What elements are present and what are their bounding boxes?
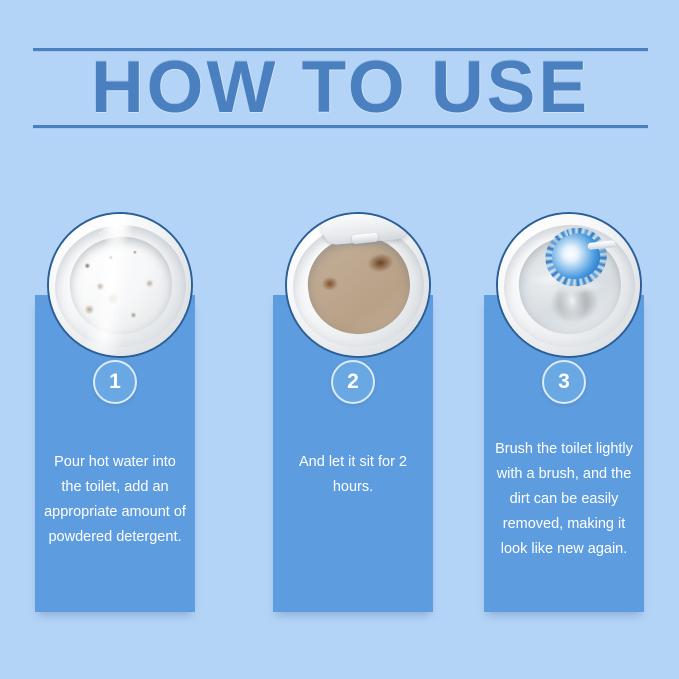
dirty-toilet-photo [49, 214, 191, 356]
step-card-3: Brush the toilet lightly with a brush, a… [484, 200, 644, 630]
page-header: HOW TO USE [33, 48, 648, 130]
steps-container: Pour hot water into the toilet, add an a… [0, 200, 679, 630]
toilet-brush-icon [546, 227, 607, 286]
toilet-bowl-interior-foam [302, 230, 417, 340]
step-card-2: And let it sit for 2 hours. 2 [273, 200, 433, 630]
page-title: HOW TO USE [33, 50, 648, 126]
foamy-toilet-photo [287, 214, 429, 356]
header-rule-bottom [33, 125, 648, 129]
step-image-2 [285, 212, 431, 358]
step-caption-2: And let it sit for 2 hours. [281, 450, 425, 500]
powder-grains [86, 217, 134, 353]
step-badge-2: 2 [331, 360, 375, 404]
step-image-1 [47, 212, 193, 358]
step-caption-1: Pour hot water into the toilet, add an a… [43, 450, 187, 550]
step-caption-3: Brush the toilet lightly with a brush, a… [492, 437, 636, 562]
clean-toilet-photo [498, 214, 640, 356]
step-card-1: Pour hot water into the toilet, add an a… [35, 200, 195, 630]
foam-bubbles [302, 230, 417, 340]
step-image-3 [496, 212, 642, 358]
step-badge-1: 1 [93, 360, 137, 404]
step-badge-3: 3 [542, 360, 586, 404]
